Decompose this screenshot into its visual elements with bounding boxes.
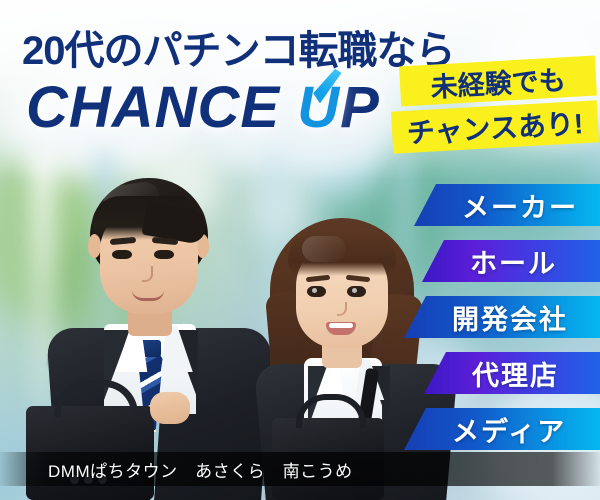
caption-bar: DMMぱちタウン あさくら 南こうめ [0, 452, 600, 486]
category-button-developer[interactable]: 開発会社 [404, 296, 600, 338]
category-label-media: メディア [452, 410, 566, 449]
category-button-maker[interactable]: メーカー [414, 184, 600, 226]
recruitment-banner: 20代のパチンコ転職なら CHANCE UP 未経験でも チャンスあり! メーカ… [0, 0, 600, 500]
logo-letter-u: U [297, 74, 340, 141]
male-hand [150, 392, 190, 424]
category-button-media[interactable]: メディア [404, 408, 600, 450]
category-button-hall[interactable]: ホール [422, 240, 600, 282]
category-label-hall: ホール [470, 242, 557, 281]
category-button-agency[interactable]: 代理店 [424, 352, 600, 394]
category-label-developer: 開発会社 [452, 298, 568, 337]
headline-text: 20代のパチンコ転職なら [22, 18, 455, 76]
caption-text: DMMぱちタウン あさくら 南こうめ [48, 457, 353, 482]
category-label-maker: メーカー [462, 186, 578, 225]
logo-word-chance: CHANCE [26, 75, 280, 140]
logo-letter-p: P [340, 75, 380, 140]
category-label-agency: 代理店 [472, 354, 559, 393]
